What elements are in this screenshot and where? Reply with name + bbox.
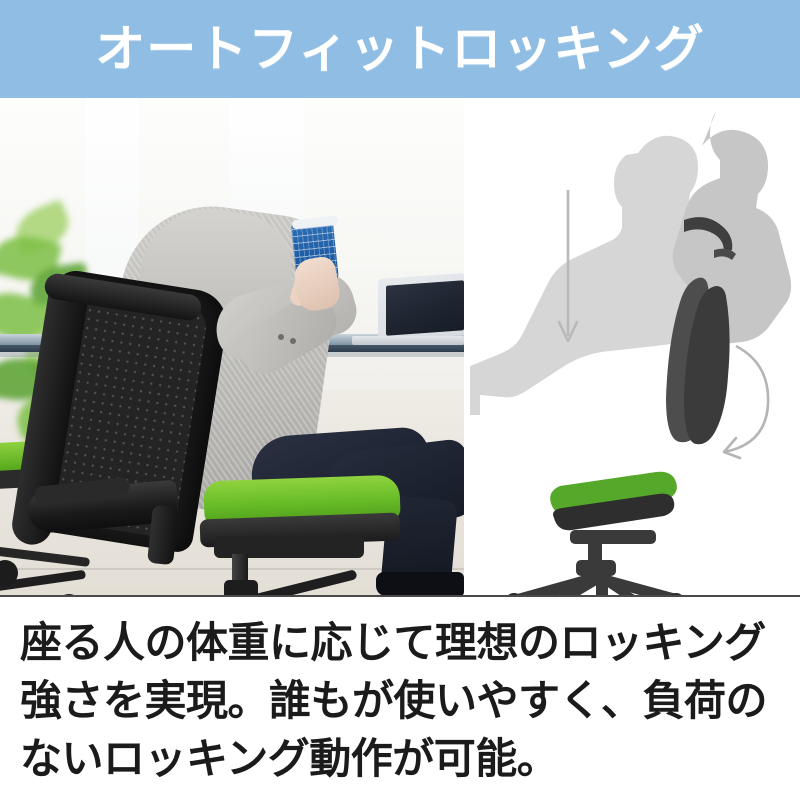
- mechanism-diagram: [470, 98, 800, 595]
- header-banner: オートフィットロッキング: [0, 0, 800, 98]
- caption-line-1: 座る人の体重に応じて理想のロッキング: [20, 614, 780, 672]
- caption-line-2: 強さを実現。誰もが使いやすく、負荷の: [20, 672, 780, 730]
- jacket-cuff-button: [278, 334, 284, 340]
- person-shoe: [376, 572, 464, 595]
- diagram-chair-seat: [550, 472, 677, 531]
- mechanism-diagram-svg: [470, 98, 800, 595]
- diagram-chair-mechanism: [570, 530, 656, 576]
- page-title: オートフィットロッキング: [95, 24, 705, 74]
- product-feature-card: オートフィットロッキング: [0, 0, 800, 800]
- rocking-rotation-arrow: [724, 346, 768, 458]
- chair-cylinder-collar: [224, 580, 258, 595]
- laptop-keyboard-base: [352, 336, 464, 345]
- laptop-screen: [386, 280, 464, 335]
- product-photo: [0, 98, 464, 595]
- media-strip: [0, 98, 800, 595]
- photo-scene: [0, 98, 464, 595]
- section-divider: [0, 595, 800, 597]
- diagram-chair-base: [510, 572, 684, 595]
- jacket-cuff-button: [290, 338, 296, 344]
- feature-description: 座る人の体重に応じて理想のロッキング 強さを実現。誰もが使いやすく、負荷の ない…: [0, 600, 800, 800]
- caption-line-3: ないロッキング動作が可能。: [20, 730, 780, 788]
